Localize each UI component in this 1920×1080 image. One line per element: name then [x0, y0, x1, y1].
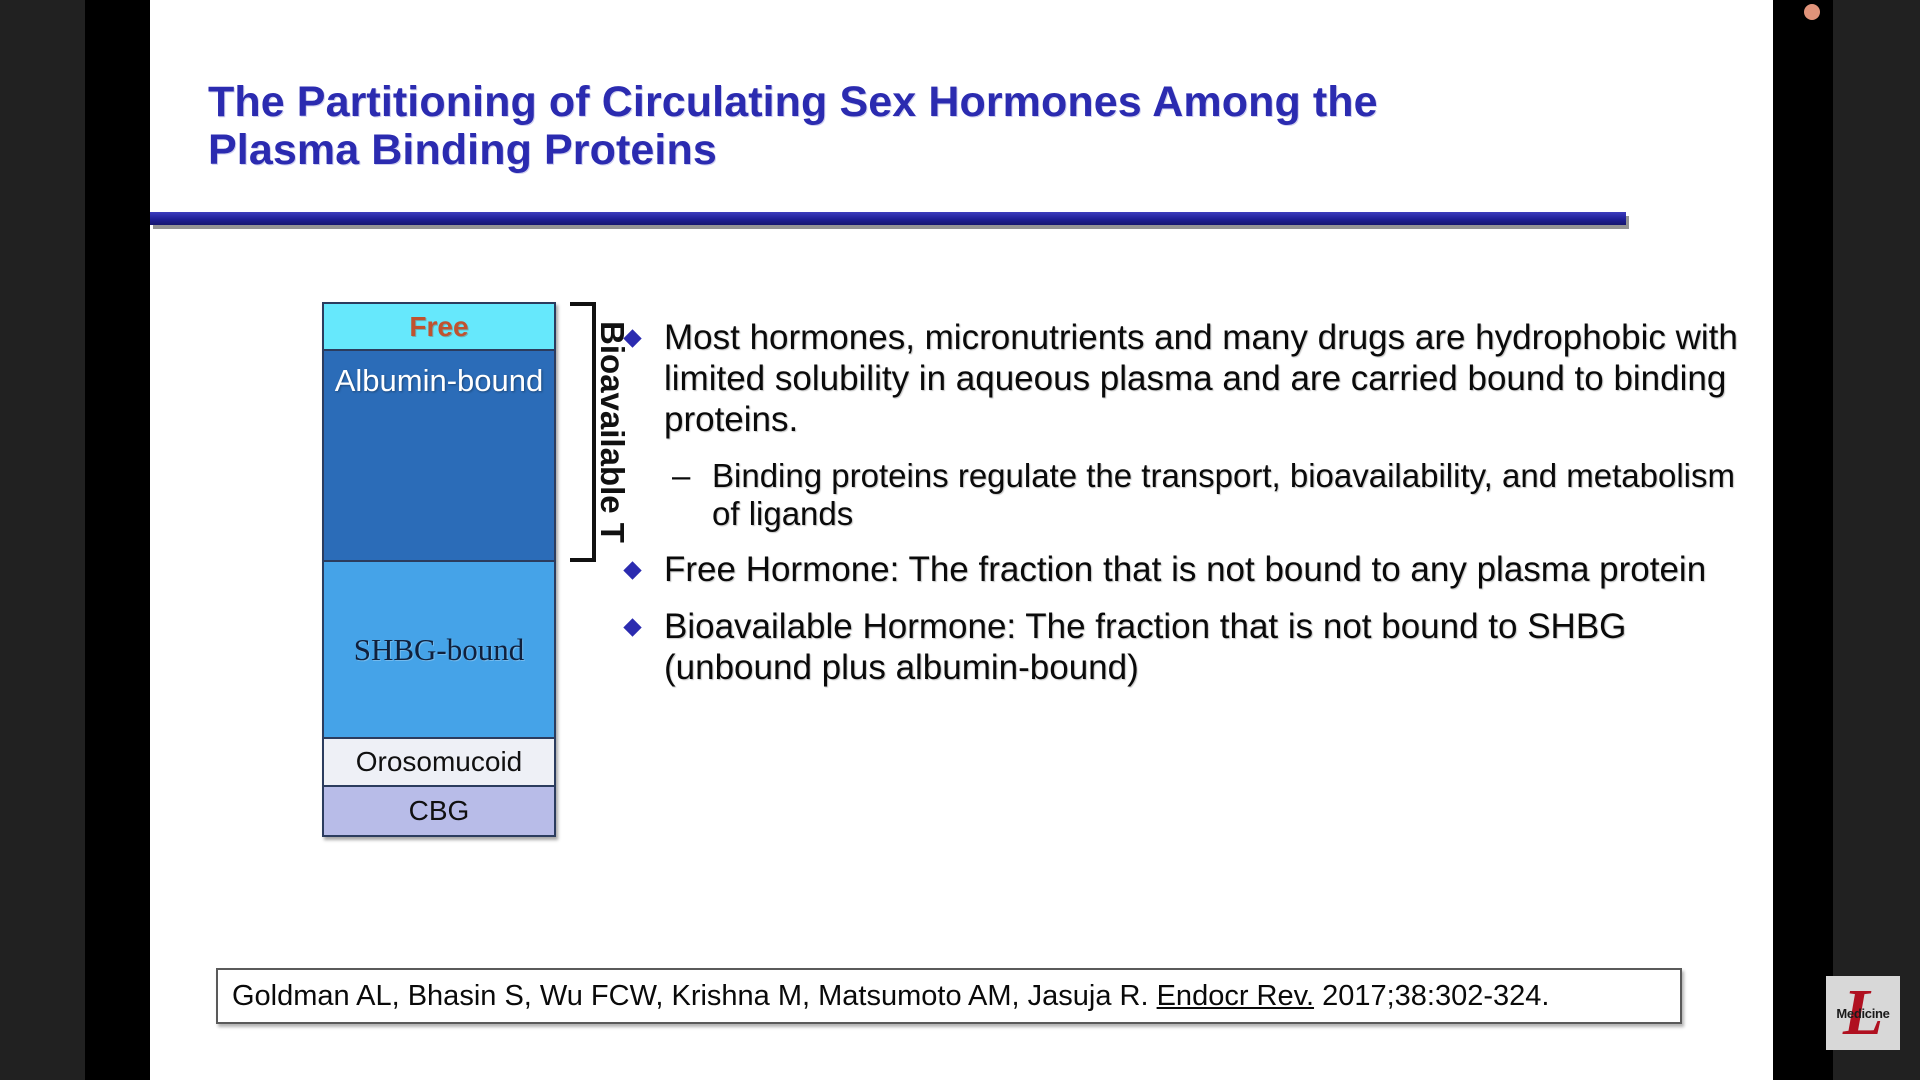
segment-cbg: CBG [324, 787, 554, 835]
title-block: The Partitioning of Circulating Sex Horm… [208, 78, 1498, 174]
partition-diagram: Free Albumin-bound SHBG-bound Orosomucoi… [322, 302, 556, 837]
citation-details: 2017;38:302-324. [1314, 980, 1549, 1012]
citation-journal: Endocr Rev. [1157, 980, 1314, 1012]
citation-authors: Goldman AL, Bhasin S, Wu FCW, Krishna M,… [232, 980, 1157, 1012]
bullet-item-1: Most hormones, micronutrients and many d… [620, 318, 1740, 441]
bullet-marker-2 [620, 550, 664, 582]
letterbox-right-inner [1773, 0, 1833, 1080]
dash-bullet-icon: – [672, 457, 712, 496]
segment-cbg-label: CBG [409, 795, 470, 827]
diamond-bullet-icon [623, 561, 641, 579]
citation-text: Goldman AL, Bhasin S, Wu FCW, Krishna M,… [232, 980, 1549, 1013]
segment-albumin-bound-label: Albumin-bound [335, 365, 544, 398]
letterbox-right-outer [1833, 0, 1920, 1080]
bullet-list: Most hormones, micronutrients and many d… [620, 318, 1740, 705]
title-underline-rule [150, 212, 1626, 225]
segment-shbg-bound-label: SHBG-bound [354, 632, 525, 668]
sub-bullet-text-1: Binding proteins regulate the transport,… [712, 457, 1740, 534]
bullet-text-1: Most hormones, micronutrients and many d… [664, 318, 1740, 441]
bullet-text-2: Free Hormone: The fraction that is not b… [664, 550, 1740, 591]
presentation-slide: The Partitioning of Circulating Sex Horm… [150, 0, 1773, 1080]
institution-logo: L Medicine [1826, 976, 1900, 1050]
letterbox-left-inner [85, 0, 150, 1080]
bullet-item-2: Free Hormone: The fraction that is not b… [620, 550, 1740, 591]
bullet-item-3: Bioavailable Hormone: The fraction that … [620, 607, 1740, 689]
segment-orosomucoid-label: Orosomucoid [356, 746, 523, 778]
logo-word-medicine: Medicine [1826, 1006, 1900, 1021]
sub-bullet-item-1: – Binding proteins regulate the transpor… [672, 457, 1740, 534]
bullet-marker-1 [620, 318, 664, 350]
partition-bar-column: Free Albumin-bound SHBG-bound Orosomucoi… [322, 302, 556, 837]
letterbox-left-outer [0, 0, 85, 1080]
recording-indicator-dot [1804, 4, 1820, 20]
diamond-bullet-icon [623, 329, 641, 347]
page-title: The Partitioning of Circulating Sex Horm… [208, 78, 1498, 174]
citation-box: Goldman AL, Bhasin S, Wu FCW, Krishna M,… [216, 968, 1682, 1024]
segment-orosomucoid: Orosomucoid [324, 739, 554, 787]
screen-viewport: The Partitioning of Circulating Sex Horm… [0, 0, 1920, 1080]
bullet-marker-3 [620, 607, 664, 639]
segment-free-label: Free [409, 311, 468, 343]
segment-free: Free [324, 304, 554, 351]
diamond-bullet-icon [623, 618, 641, 636]
segment-albumin-bound: Albumin-bound [324, 351, 554, 562]
bullet-text-3: Bioavailable Hormone: The fraction that … [664, 607, 1740, 689]
segment-shbg-bound: SHBG-bound [324, 562, 554, 739]
